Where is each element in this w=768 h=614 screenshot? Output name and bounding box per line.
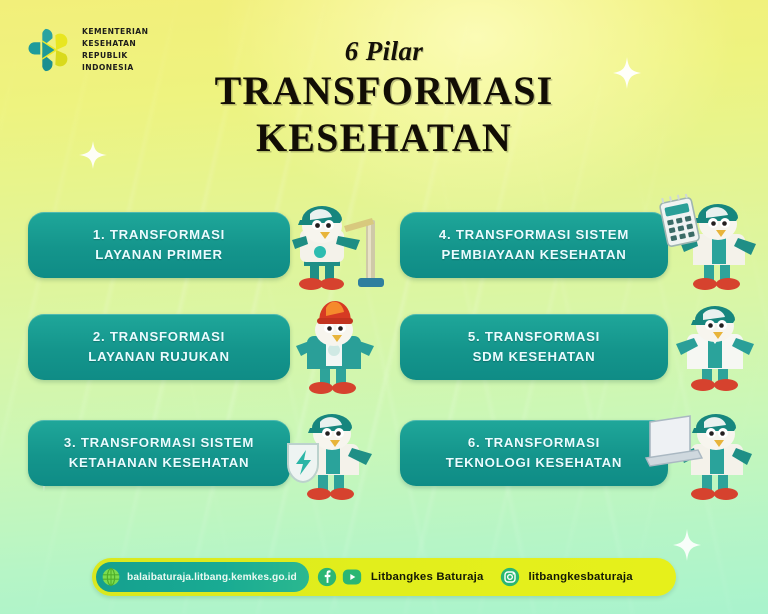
footer-bar: balaibaturaja.litbang.kemkes.go.id Litba… [92,558,676,596]
pillar-card-3[interactable]: 3. TRANSFORMASI SISTEM KETAHANAN KESEHAT… [28,420,290,486]
facebook-youtube-group[interactable]: Litbangkes Baturaja [317,567,484,587]
pillar-card-1[interactable]: 1. TRANSFORMASI LAYANAN PRIMER [28,212,290,278]
pillar-row-4: 4. TRANSFORMASI SISTEM PEMBIAYAAN KESEHA… [400,212,748,288]
pillar-card-6[interactable]: 6. TRANSFORMASI TEKNOLOGI KESEHATAN [400,420,668,486]
pillar-card-2[interactable]: 2. TRANSFORMASI LAYANAN RUJUKAN [28,314,290,380]
pillar-card-3-label: 3. TRANSFORMASI SISTEM KETAHANAN KESEHAT… [64,433,254,474]
mascot-with-height-scale [280,204,388,300]
pillar-card-4[interactable]: 4. TRANSFORMASI SISTEM PEMBIAYAAN KESEHA… [400,212,668,278]
pillar-card-5-label: 5. TRANSFORMASI SDM KESEHATAN [468,327,600,368]
title-line-2: KESEHATAN [0,116,768,159]
infographic-poster: KEMENTERIAN KESEHATAN REPUBLIK INDONESIA… [0,0,768,614]
pillar-card-2-label: 2. TRANSFORMASI LAYANAN RUJUKAN [88,327,229,368]
website-url: balaibaturaja.litbang.kemkes.go.id [127,572,297,583]
website-pill[interactable]: balaibaturaja.litbang.kemkes.go.id [96,562,309,592]
facebook-icon[interactable] [317,567,337,587]
sparkle-icon [672,528,702,562]
pillar-card-1-label: 1. TRANSFORMASI LAYANAN PRIMER [93,225,225,266]
title-line-1: TRANSFORMASI [0,69,768,112]
instagram-handle: litbangkesbaturaja [529,571,633,583]
youtube-icon[interactable] [342,567,362,587]
pillar-row-3: 3. TRANSFORMASI SISTEM KETAHANAN KESEHAT… [28,420,368,496]
pillar-card-6-label: 6. TRANSFORMASI TEKNOLOGI KESEHATAN [446,433,622,474]
facebook-youtube-handle: Litbangkes Baturaja [371,571,484,583]
pillar-row-2: 2. TRANSFORMASI LAYANAN RUJUKAN [28,314,368,390]
instagram-icon[interactable] [500,567,520,587]
pillar-row-1: 1. TRANSFORMASI LAYANAN PRIMER [28,212,368,288]
instagram-group[interactable]: litbangkesbaturaja [500,567,633,587]
pillars-grid: 1. TRANSFORMASI LAYANAN PRIMER [0,196,768,508]
mascot-doctor-coat [668,290,762,402]
pillar-row-6: 6. TRANSFORMASI TEKNOLOGI KESEHATAN [400,420,748,496]
globe-icon [101,567,121,587]
mascot-with-shield [282,404,384,508]
pillar-card-4-label: 4. TRANSFORMASI SISTEM PEMBIAYAAN KESEHA… [439,225,629,266]
pillar-card-5[interactable]: 5. TRANSFORMASI SDM KESEHATAN [400,314,668,380]
page-title: 6 Pilar TRANSFORMASI KESEHATAN [0,36,768,159]
mascot-with-red-helmet [290,292,386,404]
pillar-row-5: 5. TRANSFORMASI SDM KESEHATAN [400,314,748,390]
title-eyebrow: 6 Pilar [0,36,768,67]
